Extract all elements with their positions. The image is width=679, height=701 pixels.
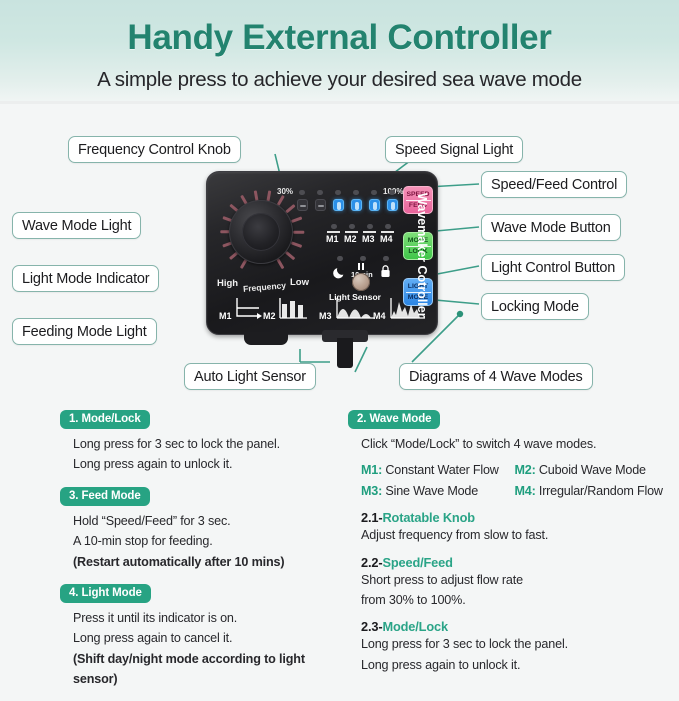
wave-mode-desc: Cuboid Wave Mode bbox=[536, 463, 646, 477]
callout-frequency-control-knob: Frequency Control Knob bbox=[68, 136, 241, 163]
svg-text:M1: M1 bbox=[219, 311, 232, 321]
page-header: Handy External Controller A simple press… bbox=[0, 0, 679, 104]
knob-label-high: High bbox=[217, 278, 238, 289]
instruction-line: Long press again to cancel it. bbox=[60, 628, 345, 648]
subsection-number: 2.3- bbox=[361, 619, 382, 634]
knob-dial[interactable] bbox=[229, 200, 293, 264]
wave-mode-key: M3: bbox=[361, 484, 382, 498]
moon-icon bbox=[333, 265, 347, 279]
wave-mode-desc: Constant Water Flow bbox=[382, 463, 499, 477]
power-cable bbox=[337, 338, 353, 368]
wave-diagram-m1-m2: M1 M2 bbox=[219, 292, 311, 322]
wave-mode-list: M1: Constant Water Flow M2: Cuboid Wave … bbox=[348, 460, 668, 501]
wave-mode-item: M1: Constant Water Flow bbox=[361, 460, 515, 480]
instruction-line-bold: (Shift day/night mode according to light… bbox=[60, 649, 345, 690]
knob-label-low: Low bbox=[290, 277, 309, 288]
product-diagram: High Frequency Low M1 M2 bbox=[0, 104, 679, 409]
subsection-name: Rotatable Knob bbox=[382, 510, 474, 525]
mode-label-m1: M1 bbox=[326, 234, 339, 244]
callout-text: Locking Mode bbox=[491, 299, 579, 315]
wave-mode-key: M1: bbox=[361, 463, 382, 477]
section-mode-lock: 1. Mode/Lock Long press for 3 sec to loc… bbox=[60, 409, 345, 475]
wave-mode-lights: M1 M2 M3 M4 bbox=[327, 224, 399, 246]
callout-light-mode-indicator: Light Mode Indicator bbox=[12, 265, 159, 292]
page-root: Handy External Controller A simple press… bbox=[0, 0, 679, 679]
callout-text: Auto Light Sensor bbox=[194, 369, 306, 385]
callout-speed-feed-control: Speed/Feed Control bbox=[481, 171, 627, 198]
callout-text: Speed/Feed Control bbox=[491, 177, 617, 193]
mode-label-m4: M4 bbox=[380, 234, 393, 244]
subsection-mode-lock: 2.3-Mode/Lock Long press for 3 sec to lo… bbox=[361, 619, 668, 675]
light-sensor-label: Light Sensor bbox=[329, 292, 381, 302]
wave-mode-item: M2: Cuboid Wave Mode bbox=[515, 460, 669, 480]
subsection-name: Mode/Lock bbox=[382, 619, 447, 634]
wave-mode-key: M4: bbox=[515, 484, 536, 498]
section-badge: 2. Wave Mode bbox=[348, 410, 440, 429]
callout-text: Wave Mode Button bbox=[491, 220, 611, 236]
instruction-line: Long press for 3 sec to lock the panel. bbox=[60, 434, 345, 454]
subsection-name: Speed/Feed bbox=[382, 555, 452, 570]
callout-wave-mode-light: Wave Mode Light bbox=[12, 212, 141, 239]
callout-locking-mode: Locking Mode bbox=[481, 293, 589, 320]
instruction-line: Adjust frequency from slow to fast. bbox=[361, 525, 668, 545]
instruction-line: Long press for 3 sec to lock the panel. bbox=[361, 634, 668, 654]
subsection-number: 2.1- bbox=[361, 510, 382, 525]
speed-min-label: 30% bbox=[277, 187, 293, 196]
callout-speed-signal-light: Speed Signal Light bbox=[385, 136, 523, 163]
subsection-speed-feed: 2.2-Speed/Feed Short press to adjust flo… bbox=[361, 555, 668, 611]
callout-text: Speed Signal Light bbox=[395, 142, 513, 158]
callout-text: Diagrams of 4 Wave Modes bbox=[409, 369, 583, 385]
svg-text:M4: M4 bbox=[373, 311, 386, 321]
section-badge: 4. Light Mode bbox=[60, 584, 151, 603]
instruction-line: from 30% to 100%. bbox=[361, 590, 668, 610]
section-badge: 3. Feed Mode bbox=[60, 487, 150, 506]
callout-text: Feeding Mode Light bbox=[22, 324, 147, 340]
callout-light-control-button: Light Control Button bbox=[481, 254, 625, 281]
mode-label-m3: M3 bbox=[362, 234, 375, 244]
wave-mode-subsections: 2.1-Rotatable Knob Adjust frequency from… bbox=[348, 510, 668, 675]
section-feed-mode: 3. Feed Mode Hold “Speed/Feed” for 3 sec… bbox=[60, 486, 345, 572]
lock-icon bbox=[379, 264, 392, 278]
frequency-knob[interactable] bbox=[219, 190, 303, 274]
instruction-line: Long press again to unlock it. bbox=[361, 655, 668, 675]
instruction-line: Press it until its indicator is on. bbox=[60, 608, 345, 628]
wave-mode-desc: Irregular/Random Flow bbox=[536, 484, 663, 498]
device-foot bbox=[244, 332, 288, 345]
callout-text: Frequency Control Knob bbox=[78, 142, 231, 158]
callout-diagrams-of-4-wave-modes: Diagrams of 4 Wave Modes bbox=[399, 363, 593, 390]
mode-label-m2: M2 bbox=[344, 234, 357, 244]
page-subtitle: A simple press to achieve your desired s… bbox=[0, 68, 679, 92]
svg-text:M2: M2 bbox=[263, 311, 276, 321]
callout-wave-mode-button: Wave Mode Button bbox=[481, 214, 621, 241]
brand-label: Wavemaker Cotroller bbox=[412, 188, 432, 323]
callout-text: Wave Mode Light bbox=[22, 218, 131, 234]
instruction-line-bold: (Restart automatically after 10 mins) bbox=[60, 552, 345, 572]
subsection-number: 2.2- bbox=[361, 555, 382, 570]
auto-light-sensor bbox=[352, 273, 370, 291]
callout-text: Light Control Button bbox=[491, 260, 615, 276]
section-badge: 1. Mode/Lock bbox=[60, 410, 150, 429]
section-light-mode: 4. Light Mode Press it until its indicat… bbox=[60, 583, 345, 690]
callout-auto-light-sensor: Auto Light Sensor bbox=[184, 363, 316, 390]
page-title: Handy External Controller bbox=[0, 0, 679, 55]
wave-mode-item: M4: Irregular/Random Flow bbox=[515, 481, 669, 501]
instructions-area: 1. Mode/Lock Long press for 3 sec to loc… bbox=[0, 409, 679, 679]
section-wave-mode: 2. Wave Mode Click “Mode/Lock” to switch… bbox=[348, 409, 668, 675]
instruction-line: Long press again to unlock it. bbox=[60, 454, 345, 474]
controller-device: High Frequency Low M1 M2 bbox=[206, 171, 438, 335]
instructions-column-right: 2. Wave Mode Click “Mode/Lock” to switch… bbox=[348, 409, 668, 675]
callout-text: Light Mode Indicator bbox=[22, 271, 149, 287]
instruction-line: Short press to adjust flow rate bbox=[361, 570, 668, 590]
instruction-line: A 10-min stop for feeding. bbox=[60, 531, 345, 551]
wave-mode-desc: Sine Wave Mode bbox=[382, 484, 478, 498]
wave-mode-key: M2: bbox=[515, 463, 536, 477]
wave-mode-item: M3: Sine Wave Mode bbox=[361, 481, 515, 501]
instructions-column-left: 1. Mode/Lock Long press for 3 sec to loc… bbox=[60, 409, 345, 701]
subsection-rotatable-knob: 2.1-Rotatable Knob Adjust frequency from… bbox=[361, 510, 668, 545]
svg-text:M3: M3 bbox=[319, 311, 332, 321]
instruction-line: Click “Mode/Lock” to switch 4 wave modes… bbox=[348, 434, 668, 454]
speed-signal-dots bbox=[299, 190, 399, 197]
callout-feeding-mode-light: Feeding Mode Light bbox=[12, 318, 157, 345]
speed-signal-leds bbox=[299, 199, 399, 211]
instruction-line: Hold “Speed/Feed” for 3 sec. bbox=[60, 511, 345, 531]
